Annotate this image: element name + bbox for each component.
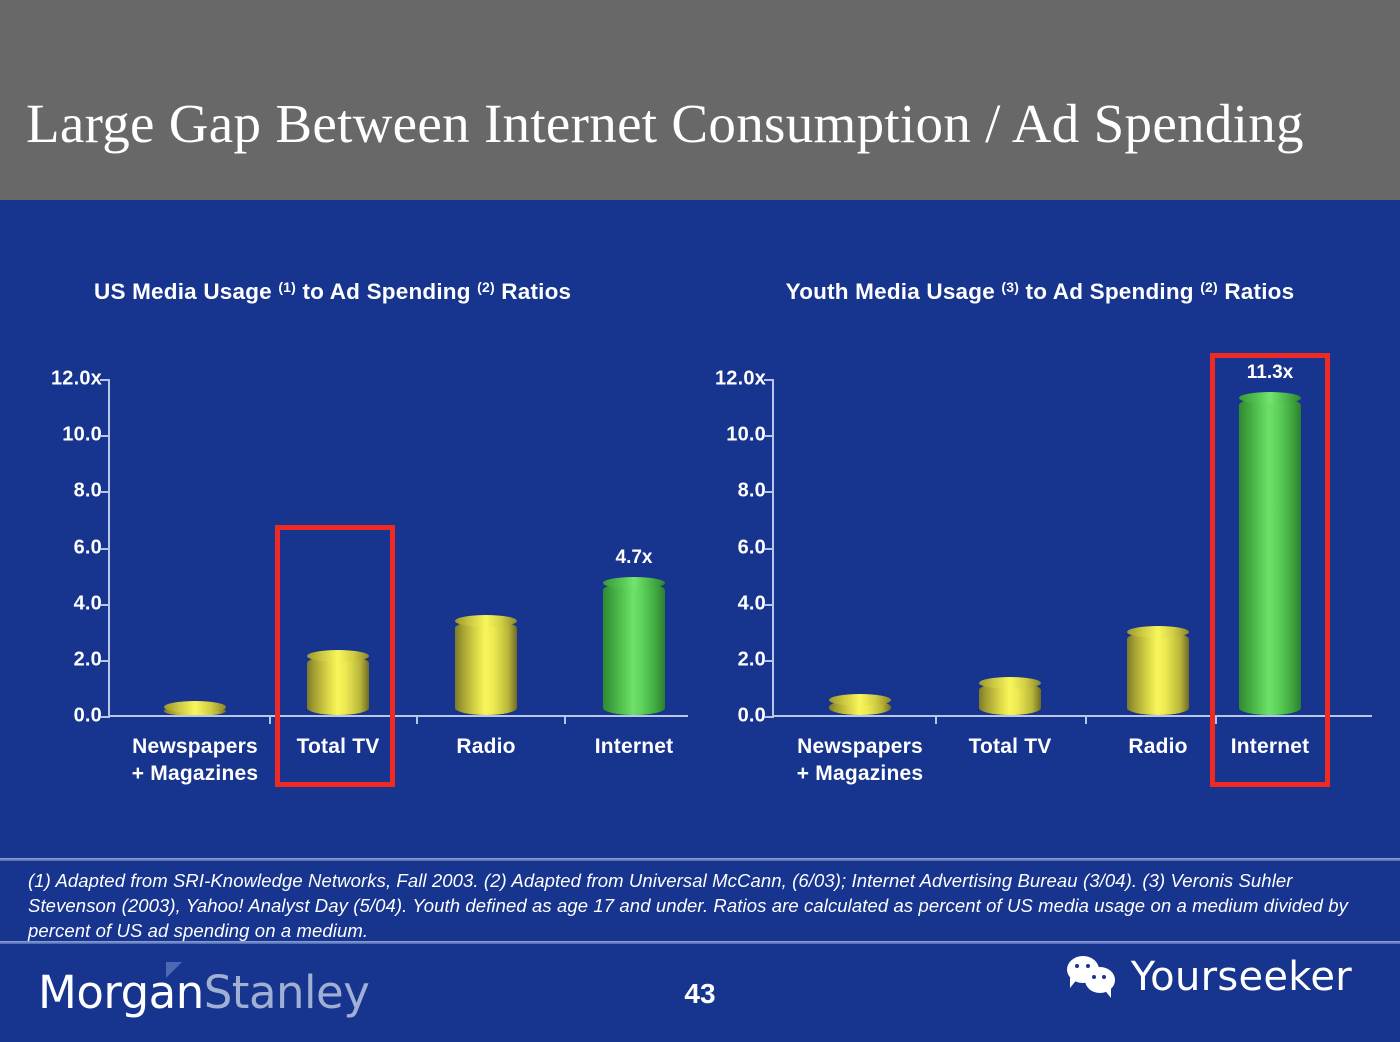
bar-newspapers-magazines: [829, 700, 891, 715]
x-axis-line: [108, 715, 688, 717]
y-axis-tick-label: 4.0: [702, 592, 766, 615]
y-axis-tick-label: 10.0: [20, 424, 102, 447]
footnote-marker: (1): [278, 279, 296, 295]
y-axis-tick-label: 2.0: [702, 648, 766, 671]
y-axis-tick: 10.0: [700, 435, 766, 436]
y-axis-tick-mark: [764, 491, 774, 493]
wechat-icon: [1067, 956, 1121, 998]
y-axis-tick-mark: [100, 491, 110, 493]
y-axis-tick-label: 8.0: [20, 480, 102, 503]
y-axis-tick-mark: [100, 548, 110, 550]
chart-title-youth: Youth Media Usage (3) to Ad Spending (2)…: [700, 270, 1380, 309]
plot-area-youth: 12.0x10.08.06.04.02.00.0 11.3x Newspaper…: [700, 365, 1380, 810]
bar-cap: [455, 615, 517, 627]
chart-title-us: US Media Usage (1) to Ad Spending (2) Ra…: [16, 270, 696, 309]
slide-footer: MorganStanley 43 Yourseeker: [0, 944, 1400, 1042]
y-axis-tick: 2.0: [16, 660, 102, 661]
y-axis-tick-mark: [764, 604, 774, 606]
y-axis-tick-mark: [764, 379, 774, 381]
x-axis-tick-mark: [564, 715, 566, 724]
footnote-marker: (3): [1001, 279, 1019, 295]
x-axis-tick-mark: [269, 715, 271, 724]
y-axis-tick: 8.0: [700, 491, 766, 492]
y-axis-tick-mark: [100, 660, 110, 662]
y-axis-tick-mark: [100, 716, 110, 718]
footnote-marker: (2): [1200, 279, 1218, 295]
y-axis-tick: 6.0: [700, 548, 766, 549]
footnote-rule-top: [0, 858, 1400, 861]
bar-value-label: 4.7x: [616, 547, 653, 569]
y-axis-tick-mark: [764, 716, 774, 718]
y-axis-tick-mark: [100, 435, 110, 437]
watermark: Yourseeker: [1067, 954, 1352, 1000]
y-axis-tick-mark: [764, 660, 774, 662]
y-axis-tick-label: 0.0: [20, 705, 102, 728]
y-axis-tick-label: 12.0x: [702, 368, 766, 391]
y-axis-tick: 2.0: [700, 660, 766, 661]
x-axis-tick-mark: [416, 715, 418, 724]
page-title: Large Gap Between Internet Consumption /…: [26, 92, 1386, 156]
y-axis-tick: 4.0: [16, 604, 102, 605]
y-axis-tick-label: 12.0x: [20, 368, 102, 391]
y-axis-tick-label: 2.0: [20, 648, 102, 671]
footnote-marker: (2): [477, 279, 495, 295]
y-axis-tick-label: 6.0: [702, 536, 766, 559]
x-axis-tick-mark: [935, 715, 937, 724]
x-axis-tick-mark: [1085, 715, 1087, 724]
chart-panel-us-media-usage: US Media Usage (1) to Ad Spending (2) Ra…: [16, 270, 696, 810]
y-axis-tick: 0.0: [16, 716, 102, 717]
bar-radio: [1127, 632, 1189, 715]
bar-cap: [979, 677, 1041, 689]
highlight-box-internet-youth: [1210, 353, 1330, 787]
bar-cap: [603, 577, 665, 589]
y-axis-tick: 12.0x: [700, 379, 766, 380]
y-axis-tick: 12.0x: [16, 379, 102, 380]
watermark-label: Yourseeker: [1131, 954, 1352, 1000]
bar-cap: [829, 694, 891, 706]
bar-cap: [164, 701, 226, 713]
bar-total-tv: [979, 683, 1041, 715]
y-axis-tick-mark: [100, 604, 110, 606]
y-axis-tick-label: 4.0: [20, 592, 102, 615]
bar-internet: 4.7x: [603, 583, 665, 715]
chart-panel-youth-media-usage: Youth Media Usage (3) to Ad Spending (2)…: [700, 270, 1380, 810]
y-axis-tick: 10.0: [16, 435, 102, 436]
y-axis-tick: 0.0: [700, 716, 766, 717]
highlight-box-internet-us: [275, 525, 395, 787]
y-axis-tick-mark: [100, 379, 110, 381]
y-axis-tick-label: 10.0: [702, 424, 766, 447]
slide: Large Gap Between Internet Consumption /…: [0, 0, 1400, 1042]
y-axis-tick: 6.0: [16, 548, 102, 549]
bar-radio: [455, 621, 517, 715]
bar-cap: [1127, 626, 1189, 638]
y-axis-tick-label: 0.0: [702, 705, 766, 728]
bar-newspapers-magazines: [164, 707, 226, 715]
y-axis-tick: 4.0: [700, 604, 766, 605]
y-axis-tick-mark: [764, 548, 774, 550]
footnote-text: (1) Adapted from SRI-Knowledge Networks,…: [28, 868, 1373, 943]
y-axis-tick-label: 6.0: [20, 536, 102, 559]
y-axis-tick-label: 8.0: [702, 480, 766, 503]
plot-area-us: 12.0x10.08.06.04.02.00.0 4.7x Newspapers…: [16, 365, 696, 810]
y-axis-tick-mark: [764, 435, 774, 437]
triangle-icon: [166, 962, 182, 978]
y-axis-tick: 8.0: [16, 491, 102, 492]
